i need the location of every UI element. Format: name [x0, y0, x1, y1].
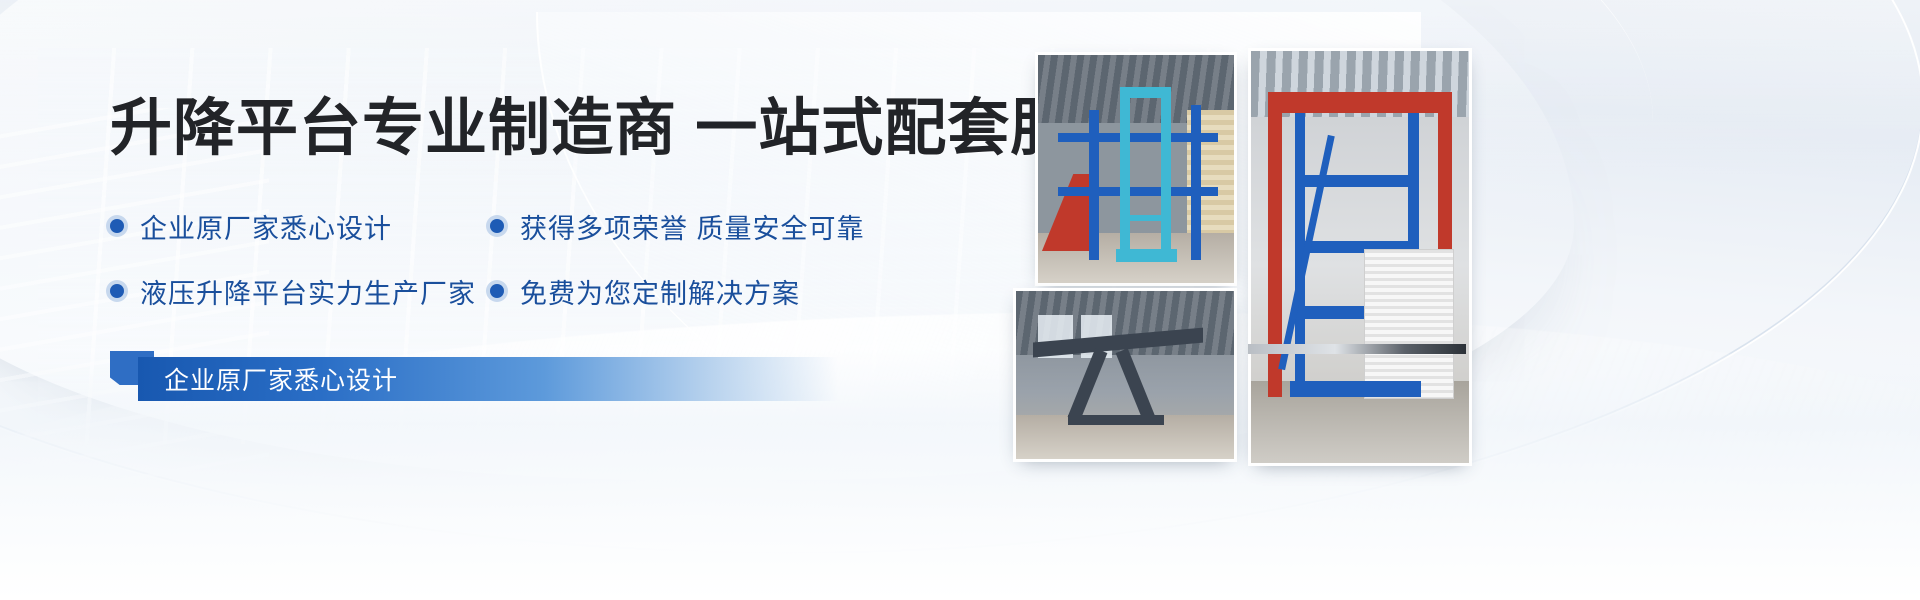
cyan-lift-frame-right [1161, 91, 1171, 260]
photo-guide-rail-lift-in-warehouse [1035, 52, 1237, 286]
cyan-lift-frame-left [1120, 91, 1130, 260]
warehouse-scene [1251, 51, 1469, 463]
bullet-dot-icon [490, 284, 504, 298]
feature-label-3: 液压升降平台实力生产厂家 [140, 272, 476, 311]
cyan-lift-guard-rail [1122, 215, 1169, 222]
blue-rack-column-right [1191, 105, 1201, 260]
ribbon-label: 企业原厂家悉心设计 [138, 361, 398, 397]
scissor-arm-right [1116, 348, 1156, 421]
red-frame-top-beam [1268, 92, 1451, 113]
promo-banner: 升降平台专业制造商 一站式配套服务 企业原厂家悉心设计 获得多项荣誉 质量安全可… [0, 0, 1920, 600]
feature-label-1: 企业原厂家悉心设计 [140, 207, 392, 246]
cyan-lift-platform [1116, 249, 1177, 263]
feature-label-4: 免费为您定制解决方案 [520, 272, 800, 311]
photo-scissor-lift-platform [1013, 288, 1237, 462]
blue-lift-cross-beam-upper [1295, 175, 1419, 187]
rolling-shutter-door [1364, 249, 1453, 399]
blue-rack-beam-upper [1058, 133, 1219, 142]
banner-headline: 升降平台专业制造商 一站式配套服务 [110, 96, 1010, 163]
highlight-ribbon: 企业原厂家悉心设计 [110, 351, 870, 401]
bullet-dot-icon [110, 219, 124, 233]
photo-cargo-lift-with-rolling-door [1248, 48, 1472, 466]
warehouse-scene [1038, 55, 1234, 283]
red-mezzanine-stairs [1042, 174, 1093, 252]
blue-lift-base [1290, 381, 1421, 397]
warehouse-scene [1016, 291, 1234, 459]
bullet-dot-icon [110, 284, 124, 298]
scissor-arm-left [1068, 348, 1108, 421]
blue-rack-beam-lower [1058, 187, 1219, 196]
ribbon-bar: 企业原厂家悉心设计 [138, 357, 838, 401]
banner-content: 升降平台专业制造商 一站式配套服务 企业原厂家悉心设计 获得多项荣誉 质量安全可… [110, 96, 1010, 401]
feature-list: 企业原厂家悉心设计 获得多项荣誉 质量安全可靠 液压升降平台实力生产厂家 免费为… [110, 207, 1010, 311]
photo-separator-strip [1248, 344, 1466, 354]
bullet-dot-icon [490, 219, 504, 233]
feature-label-2: 获得多项荣誉 质量安全可靠 [520, 207, 865, 246]
feature-item-2: 获得多项荣誉 质量安全可靠 [490, 207, 1010, 246]
cyan-lift-top-beam [1120, 87, 1171, 98]
feature-item-4: 免费为您定制解决方案 [490, 272, 1010, 311]
scissor-base-frame [1068, 415, 1164, 425]
feature-item-3: 液压升降平台实力生产厂家 [110, 272, 470, 311]
feature-item-1: 企业原厂家悉心设计 [110, 207, 470, 246]
